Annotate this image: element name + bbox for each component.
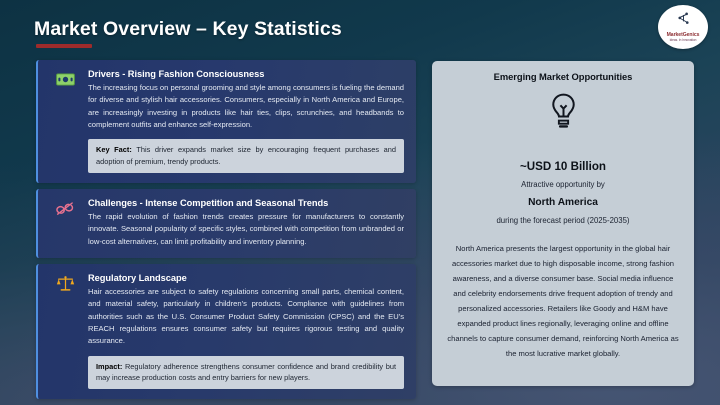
card-text: Hair accessories are subject to safety r…: [88, 286, 404, 347]
callout-label: Impact:: [96, 362, 122, 371]
callout-text: This driver expands market size by encou…: [96, 145, 396, 165]
card-title: Regulatory Landscape: [88, 273, 404, 283]
broken-link-icon: [54, 198, 76, 218]
card-text: The increasing focus on personal groomin…: [88, 82, 404, 131]
card-text: The rapid evolution of fashion trends cr…: [88, 211, 404, 248]
key-fact-callout: Key Fact: This driver expands market siz…: [88, 139, 404, 173]
banknote-icon: [54, 69, 76, 89]
lightbulb-icon: [446, 92, 680, 130]
card-body: Regulatory Landscape Hair accessories ar…: [88, 273, 404, 389]
opportunity-region: North America: [446, 197, 680, 208]
slide-canvas: Market Overview – Key Statistics MarketG…: [0, 0, 720, 405]
balance-scale-icon: [54, 273, 76, 293]
page-title: Market Overview – Key Statistics: [34, 18, 342, 41]
title-underline-rule: [36, 44, 92, 48]
logo-name: MarketGenics: [667, 32, 700, 38]
insight-card-challenges[interactable]: Challenges - Intense Competition and Sea…: [36, 189, 416, 258]
panel-title: Emerging Market Opportunities: [446, 71, 680, 82]
opportunity-description: North America presents the largest oppor…: [446, 241, 680, 361]
insight-card-drivers[interactable]: Drivers - Rising Fashion Consciousness T…: [36, 60, 416, 183]
logo-tagline: Ideas. In Innovation: [670, 38, 697, 42]
card-title: Drivers - Rising Fashion Consciousness: [88, 69, 404, 79]
opportunity-subtitle: Attractive opportunity by: [446, 180, 680, 189]
forecast-period: during the forecast period (2025-2035): [446, 216, 680, 225]
card-title: Challenges - Intense Competition and Sea…: [88, 198, 404, 208]
card-body: Drivers - Rising Fashion Consciousness T…: [88, 69, 404, 173]
emerging-opportunities-panel: Emerging Market Opportunities ~USD 10 Bi…: [432, 61, 694, 386]
opportunity-value: ~USD 10 Billion: [446, 160, 680, 173]
insight-card-list: Drivers - Rising Fashion Consciousness T…: [36, 60, 416, 405]
insight-card-regulatory[interactable]: Regulatory Landscape Hair accessories ar…: [36, 264, 416, 399]
brand-logo: MarketGenics Ideas. In Innovation: [658, 5, 708, 49]
callout-label: Key Fact:: [96, 145, 132, 154]
card-body: Challenges - Intense Competition and Sea…: [88, 198, 404, 248]
impact-callout: Impact: Regulatory adherence strengthens…: [88, 356, 404, 390]
callout-text: Regulatory adherence strengthens consume…: [96, 362, 396, 382]
network-node-icon: [676, 11, 691, 31]
